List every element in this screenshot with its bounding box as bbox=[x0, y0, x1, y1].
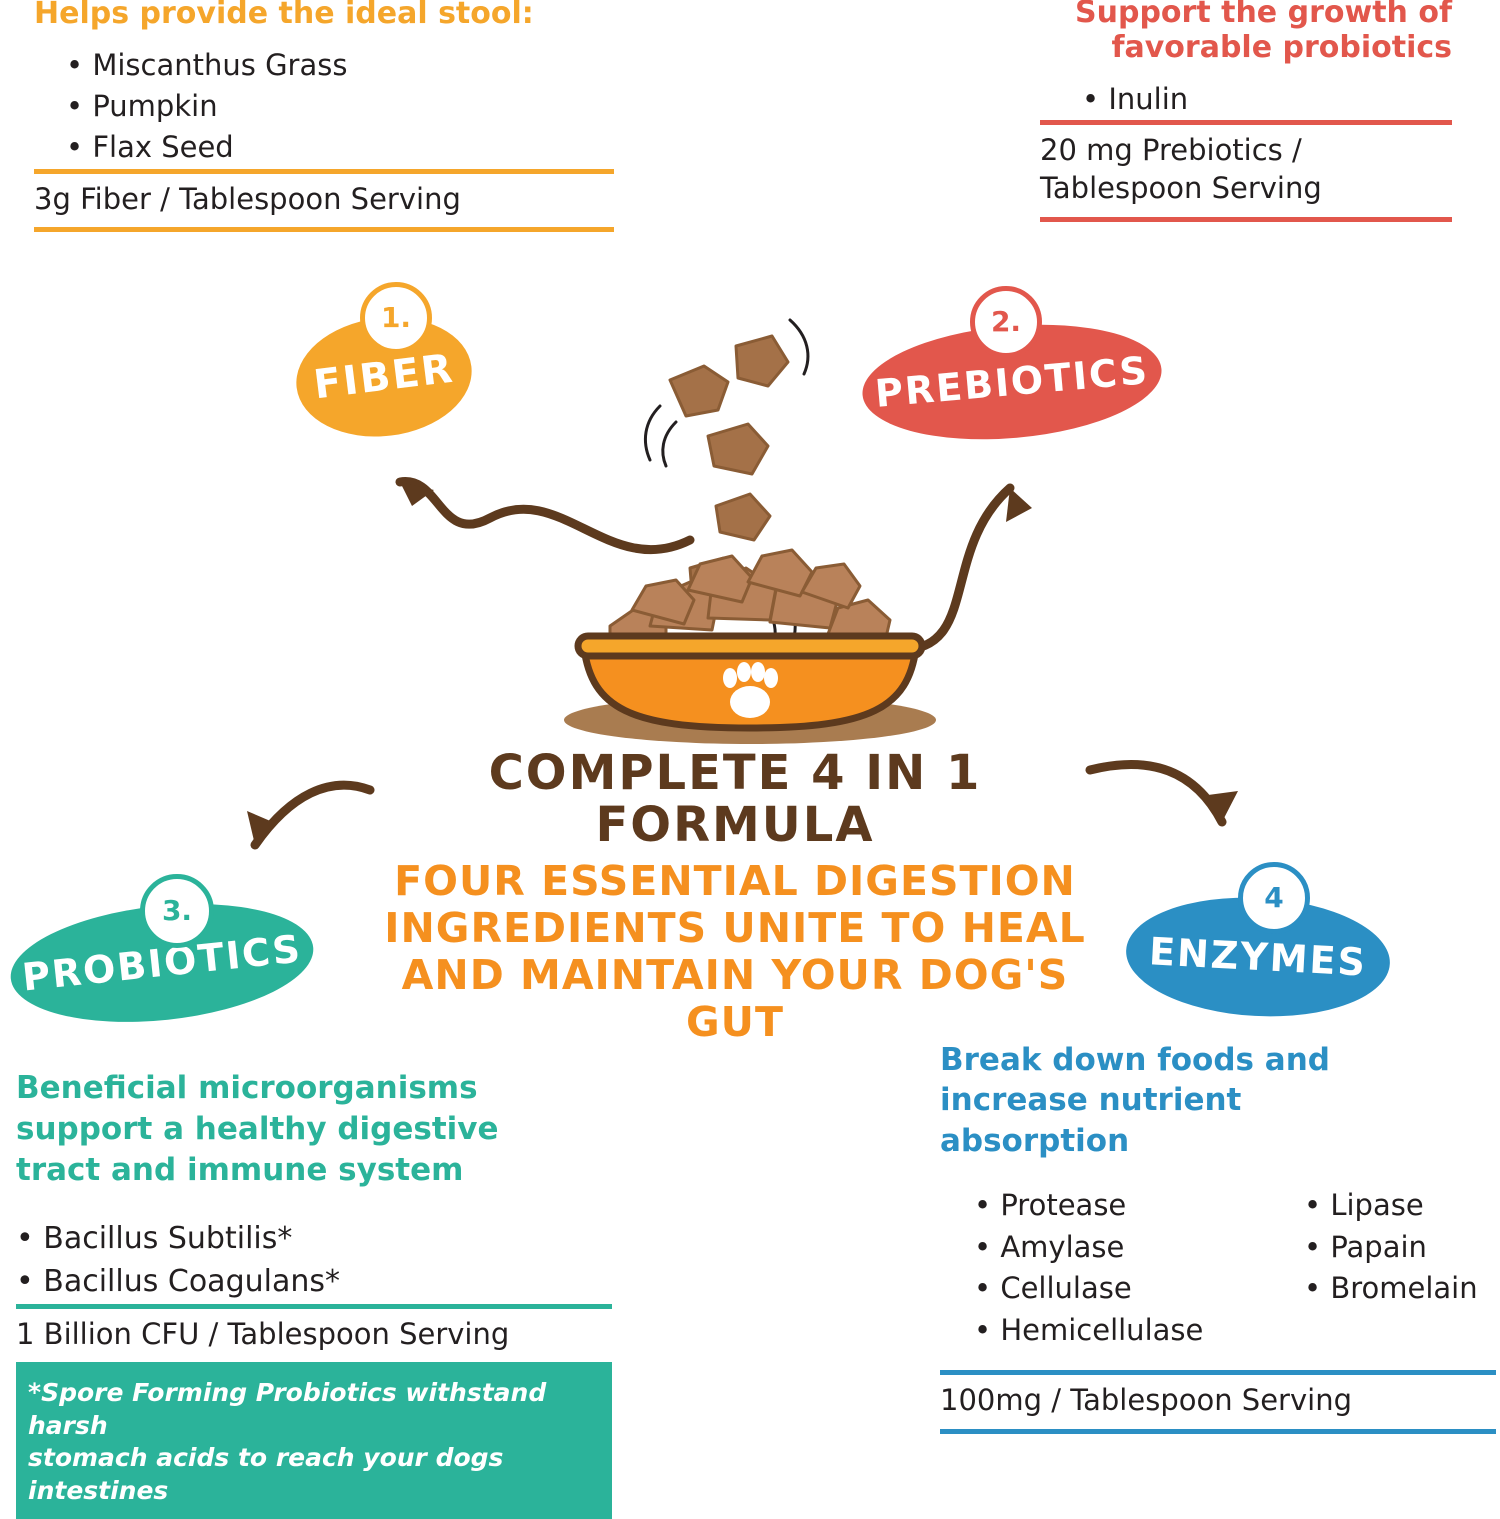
list-item: Miscanthus Grass bbox=[66, 45, 614, 86]
enzymes-heading-line1: Break down foods and bbox=[940, 1040, 1496, 1080]
probiotics-ingredient-list: Bacillus Subtilis* Bacillus Coagulans* bbox=[16, 1217, 612, 1304]
badge-probiotics-text: 3. bbox=[162, 897, 192, 925]
enzymes-heading-line2: increase nutrient bbox=[940, 1080, 1496, 1120]
prebiotics-dose: 20 mg Prebiotics / Tablespoon Serving bbox=[1040, 125, 1452, 216]
list-item: Bromelain bbox=[1304, 1268, 1494, 1310]
list-item: Lipase bbox=[1304, 1185, 1494, 1227]
enzymes-heading-line3: absorption bbox=[940, 1121, 1496, 1161]
center-subtitle: FOUR ESSENTIAL DIGESTION INGREDIENTS UNI… bbox=[380, 858, 1090, 1047]
prebiotics-rule-bottom bbox=[1040, 217, 1452, 222]
fiber-ingredient-list: Miscanthus Grass Pumpkin Flax Seed bbox=[66, 45, 614, 169]
center-subtitle-line3: AND MAINTAIN YOUR DOG'S GUT bbox=[380, 952, 1090, 1046]
list-item: Pumpkin bbox=[66, 86, 614, 127]
enzymes-rule-bottom bbox=[940, 1429, 1496, 1434]
badge-prebiotics-number: 2. bbox=[970, 286, 1042, 358]
prebiotics-heading-line2: favorable probiotics bbox=[1040, 30, 1452, 65]
probiotics-footnote: *Spore Forming Probiotics withstand hars… bbox=[16, 1367, 612, 1519]
fiber-panel: Helps provide the ideal stool: Miscanthu… bbox=[34, 0, 614, 232]
list-item: Cellulase bbox=[974, 1268, 1304, 1310]
badge-prebiotics-text: 2. bbox=[991, 308, 1021, 336]
probiotics-heading-line3: tract and immune system bbox=[16, 1150, 612, 1191]
prebiotics-panel: Support the growth of favorable probioti… bbox=[1040, 0, 1452, 222]
prebiotics-dose-line2: Tablespoon Serving bbox=[1040, 170, 1452, 208]
list-item: Inulin bbox=[1082, 79, 1452, 120]
enzymes-list-col1: Protease Amylase Cellulase Hemicellulase bbox=[974, 1185, 1304, 1352]
fiber-dose: 3g Fiber / Tablespoon Serving bbox=[34, 174, 614, 228]
enzymes-dose: 100mg / Tablespoon Serving bbox=[940, 1375, 1496, 1429]
probiotics-heading-line2: support a healthy digestive bbox=[16, 1109, 612, 1150]
fiber-heading: Helps provide the ideal stool: bbox=[34, 0, 614, 31]
center-headline: COMPLETE 4 IN 1 FORMULA FOUR ESSENTIAL D… bbox=[380, 748, 1090, 1046]
center-subtitle-line1: FOUR ESSENTIAL DIGESTION bbox=[380, 858, 1090, 905]
probiotics-footnote-line1: *Spore Forming Probiotics withstand hars… bbox=[28, 1377, 600, 1442]
list-item: Protease bbox=[974, 1185, 1304, 1227]
enzymes-list-col2: Lipase Papain Bromelain bbox=[1304, 1185, 1494, 1352]
center-subtitle-line2: INGREDIENTS UNITE TO HEAL bbox=[380, 905, 1090, 952]
prebiotics-ingredient-list: Inulin bbox=[1082, 79, 1452, 120]
list-item: Bacillus Coagulans* bbox=[16, 1260, 612, 1304]
list-item: Bacillus Subtilis* bbox=[16, 1217, 612, 1261]
list-item: Papain bbox=[1304, 1227, 1494, 1269]
badge-fiber-number: 1. bbox=[360, 282, 432, 354]
list-item: Hemicellulase bbox=[974, 1310, 1304, 1352]
badge-enzymes-number: 4 bbox=[1238, 862, 1310, 934]
center-title: COMPLETE 4 IN 1 FORMULA bbox=[380, 748, 1090, 852]
enzymes-panel: Break down foods and increase nutrient a… bbox=[940, 1040, 1496, 1434]
badge-fiber-text: 1. bbox=[381, 304, 411, 332]
fiber-rule-bottom bbox=[34, 227, 614, 232]
probiotics-panel: Beneficial microorganisms support a heal… bbox=[16, 1068, 612, 1519]
list-item: Flax Seed bbox=[66, 127, 614, 168]
probiotics-footnote-line2: stomach acids to reach your dogs intesti… bbox=[28, 1442, 600, 1507]
badge-enzymes-text: 4 bbox=[1264, 884, 1283, 912]
enzymes-ingredient-columns: Protease Amylase Cellulase Hemicellulase… bbox=[940, 1185, 1496, 1352]
badge-probiotics-number: 3. bbox=[140, 874, 214, 948]
prebiotics-heading-line1: Support the growth of bbox=[1040, 0, 1452, 30]
probiotics-dose: 1 Billion CFU / Tablespoon Serving bbox=[16, 1309, 612, 1363]
prebiotics-dose-line1: 20 mg Prebiotics / bbox=[1040, 132, 1452, 170]
list-item: Amylase bbox=[974, 1227, 1304, 1269]
probiotics-heading-line1: Beneficial microorganisms bbox=[16, 1068, 612, 1109]
